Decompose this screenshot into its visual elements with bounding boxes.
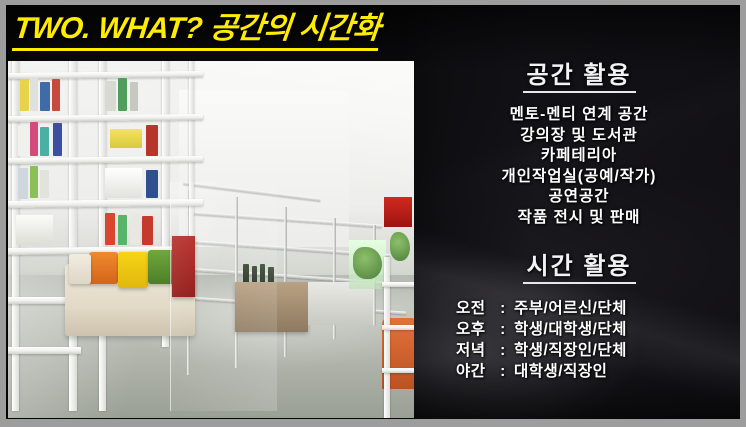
content-column: 공간 활용 멘토-멘티 연계 공간 강의장 및 도서관 카페테리아 개인작업실(… [420,61,738,419]
photo-book [40,170,49,199]
slide-title-bar: TWO. WHAT? 공간의 시간화 [14,11,514,57]
time-label: 저녁 [456,340,492,361]
time-label: 야간 [456,361,492,382]
photo-book [40,127,49,156]
photo-plant [390,232,410,261]
time-label: 오후 [456,319,492,340]
photo-shelf-post [69,61,77,411]
list-item: 오전 : 주부/어르신/단체 [456,298,738,319]
photo-cushion-orange [89,252,117,284]
time-value: 대학생/직장인 [514,361,607,382]
photo-book [30,77,38,111]
list-item: 멘토-멘티 연계 공간 [420,105,738,126]
photo-shelf-board [8,347,81,354]
photo-book [30,166,38,198]
photo-book [105,213,115,245]
time-usage-list: 오전 : 주부/어르신/단체 오후 : 학생/대학생/단체 저녁 : 학생/직장… [420,298,738,382]
photo-glass-partition [170,182,277,410]
photo-book [118,215,127,245]
time-separator: : [492,361,514,382]
space-section-heading-text: 공간 활용 [523,62,636,93]
interior-photo [8,61,414,418]
photo-book [18,125,28,156]
photo-plant [353,247,381,279]
list-item: 저녁 : 학생/직장인/단체 [456,340,738,361]
photo-shelf-board [382,325,414,330]
list-item: 작품 전시 및 판매 [420,208,738,229]
time-separator: : [492,298,514,319]
slide: TWO. WHAT? 공간의 시간화 [0,0,746,427]
time-value: 주부/어르신/단체 [514,298,627,319]
photo-book [110,129,142,149]
page-title: TWO. WHAT? 공간의 시간화 [12,11,382,51]
photo-red-lamp [384,197,412,227]
time-section-heading: 시간 활용 [420,252,738,282]
photo-book [52,79,60,111]
photo-book [130,214,140,245]
time-value: 학생/직장인/단체 [514,340,627,361]
photo-box [16,215,53,245]
photo-cushion-cream [69,254,91,284]
photo-box [105,168,142,198]
photo-book [40,82,50,111]
photo-shelf-board [382,368,414,373]
time-section-heading-text: 시간 활용 [523,253,636,284]
photo-book [118,78,127,111]
list-item: 오후 : 학생/대학생/단체 [456,319,738,340]
list-item: 야간 : 대학생/직장인 [456,361,738,382]
list-item: 강의장 및 도서관 [420,126,738,147]
photo-book [142,216,153,245]
time-separator: : [492,340,514,361]
photo-book [105,81,116,111]
list-item: 개인작업실(공예/작가) [420,167,738,188]
time-label: 오전 [456,298,492,319]
photo-book [18,168,28,199]
time-value: 학생/대학생/단체 [514,319,627,340]
time-separator: : [492,319,514,340]
space-section-heading: 공간 활용 [420,61,738,91]
photo-book [146,170,158,199]
space-usage-list: 멘토-멘티 연계 공간 강의장 및 도서관 카페테리아 개인작업실(공예/작가)… [420,105,738,228]
photo-book [53,123,62,155]
photo-cushion-yellow [118,252,148,288]
photo-book [20,79,29,111]
slide-canvas: TWO. WHAT? 공간의 시간화 [6,5,740,419]
photo-book [30,122,38,156]
list-item: 공연공간 [420,187,738,208]
photo-book [146,125,158,155]
list-item: 카페테리아 [420,146,738,167]
photo-shelf-board [382,282,414,287]
photo-book [130,82,138,111]
